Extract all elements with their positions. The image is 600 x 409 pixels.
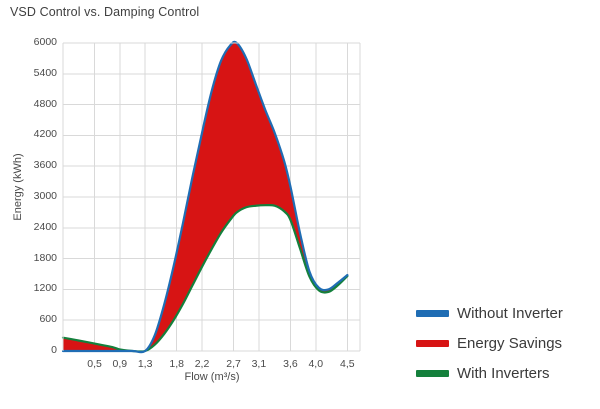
x-tick-label: 4,5 xyxy=(327,358,367,370)
y-axis-title: Energy (kWh) xyxy=(12,132,24,242)
legend-item-label: Without Inverter xyxy=(457,305,563,322)
legend-item[interactable]: With Inverters xyxy=(416,358,596,388)
y-tick-label: 600 xyxy=(11,313,57,325)
y-tick-label: 4800 xyxy=(11,98,57,110)
legend-item[interactable]: Energy Savings xyxy=(416,328,596,358)
legend-color-swatch xyxy=(416,310,449,317)
y-tick-label: 6000 xyxy=(11,36,57,48)
y-tick-label: 1200 xyxy=(11,282,57,294)
y-tick-label: 0 xyxy=(11,344,57,356)
chart-legend: Without InverterEnergy SavingsWith Inver… xyxy=(416,298,596,388)
y-tick-label: 5400 xyxy=(11,67,57,79)
legend-item[interactable]: Without Inverter xyxy=(416,298,596,328)
y-tick-label: 1800 xyxy=(11,252,57,264)
legend-color-swatch xyxy=(416,370,449,377)
legend-item-label: Energy Savings xyxy=(457,335,562,352)
legend-color-swatch xyxy=(416,340,449,347)
x-axis-title: Flow (m³/s) xyxy=(147,371,277,383)
chart-container: VSD Control vs. Damping Control 06001200… xyxy=(0,0,600,409)
legend-item-label: With Inverters xyxy=(457,365,550,382)
